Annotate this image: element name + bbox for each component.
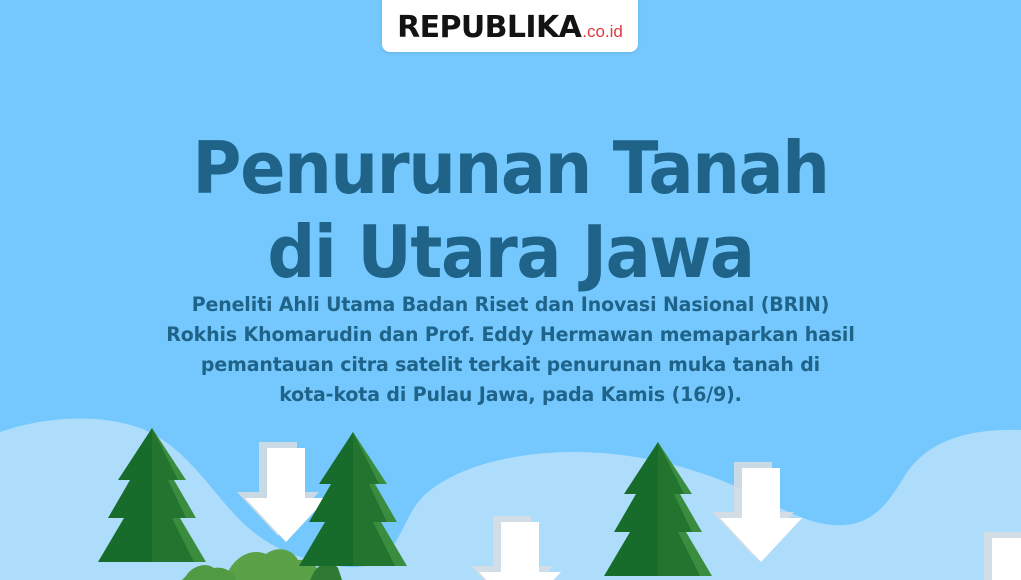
republika-wordmark-text: REPUBLIKA bbox=[397, 13, 581, 43]
deck-line-1: Peneliti Ahli Utama Badan Riset dan Inov… bbox=[15, 290, 1005, 320]
pine-tree-1 bbox=[98, 428, 206, 562]
republika-wordmark: REPUBLIKA .co.id bbox=[397, 13, 623, 43]
deck-line-2: Rokhis Khomarudin dan Prof. Eddy Hermawa… bbox=[15, 320, 1005, 350]
deck-line-3: pemantauan citra satelit terkait penurun… bbox=[15, 350, 1005, 380]
page-title-line-1: Penurunan Tanah bbox=[36, 132, 986, 204]
bush-cluster bbox=[182, 549, 342, 580]
pine-tree-3 bbox=[604, 442, 712, 576]
subsidence-arrow-1 bbox=[237, 442, 327, 542]
subsidence-arrow-4 bbox=[962, 532, 1021, 580]
infographic-poster: REPUBLIKA .co.id Penurunan Tanah di Utar… bbox=[0, 0, 1021, 580]
subsidence-arrows bbox=[237, 442, 1021, 580]
pine-tree-2 bbox=[299, 432, 407, 566]
page-title: Penurunan Tanah di Utara Jawa bbox=[36, 132, 986, 288]
page-title-line-2: di Utara Jawa bbox=[36, 216, 986, 288]
subsidence-arrow-2 bbox=[471, 516, 561, 580]
republika-domain-suffix: .co.id bbox=[582, 23, 623, 40]
hill-landmass bbox=[0, 418, 1021, 580]
page-deck: Peneliti Ahli Utama Badan Riset dan Inov… bbox=[15, 290, 1005, 410]
pine-tree-group bbox=[98, 428, 712, 576]
subsidence-arrow-3 bbox=[712, 462, 802, 562]
deck-line-4: kota-kota di Pulau Jawa, pada Kamis (16/… bbox=[15, 380, 1005, 410]
republika-logo-badge[interactable]: REPUBLIKA .co.id bbox=[382, 0, 638, 52]
